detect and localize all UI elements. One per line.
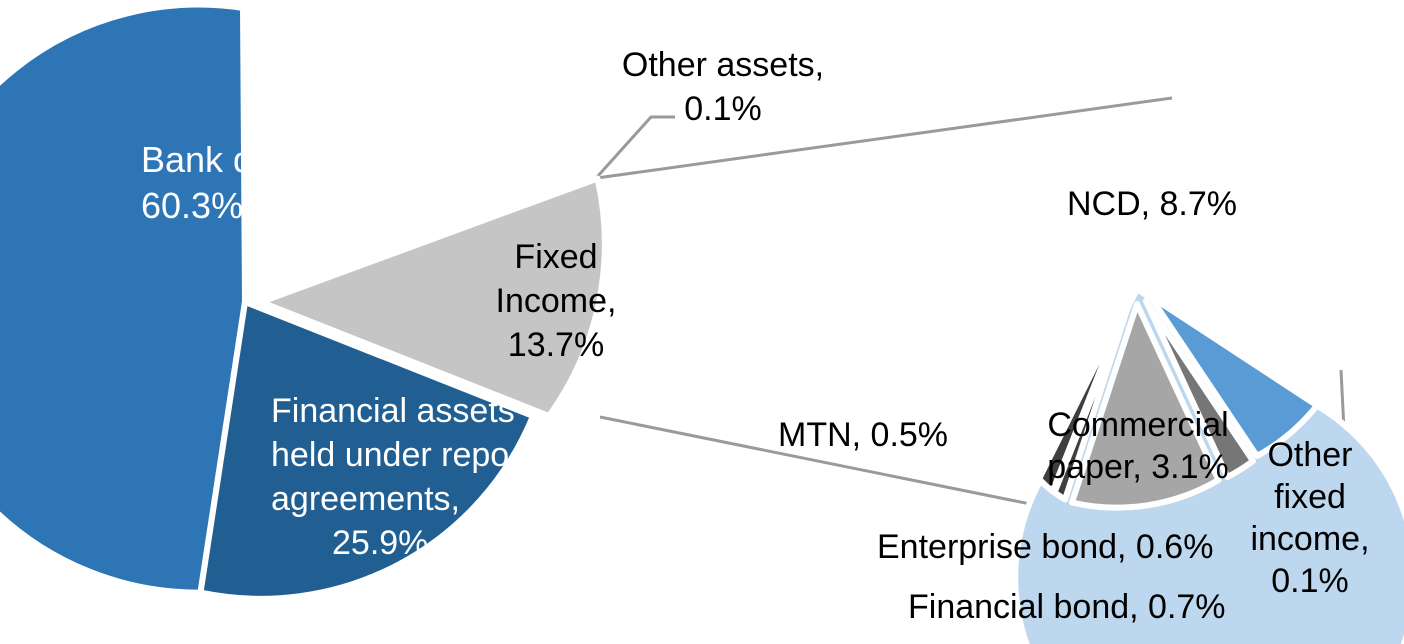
label-bank-deposits-line1: Bank deposits, (141, 139, 377, 180)
label-commercial-paper-line2: paper, 3.1% (1047, 448, 1228, 486)
label-ncd: NCD, 8.7% (1067, 185, 1237, 223)
label-repo-line1: Financial assets (271, 392, 515, 430)
connector-line-top (597, 98, 1172, 178)
label-other-fixed-income-line3: income, (1250, 520, 1369, 558)
label-mtn: MTN, 0.5% (778, 416, 948, 454)
label-other-assets-line2: 0.1% (684, 90, 762, 128)
label-enterprise-bond: Enterprise bond, 0.6% (877, 528, 1213, 566)
label-repo-line4: 25.9% (332, 524, 428, 562)
pie-of-pie-chart: Bank deposits, 60.3% Financial assets he… (0, 0, 1404, 644)
label-fixed-income-line1: Fixed (514, 238, 597, 276)
label-other-assets-line1: Other assets, (622, 46, 824, 84)
label-other-fixed-income-line4: 0.1% (1271, 562, 1349, 600)
label-bank-deposits-line2: 60.3% (141, 185, 243, 226)
label-other-fixed-income-line1: Other (1267, 436, 1352, 474)
label-commercial-paper-line1: Commercial (1047, 406, 1228, 444)
chart-canvas: Bank deposits, 60.3% Financial assets he… (0, 0, 1404, 644)
label-other-fixed-income-line2: fixed (1274, 478, 1346, 516)
label-financial-bond: Financial bond, 0.7% (908, 588, 1226, 626)
label-repo-line2: held under repo (271, 436, 509, 474)
slice-bank-deposits[interactable] (0, 5, 245, 593)
label-repo-line3: agreements, (271, 480, 460, 518)
label-fixed-income-line2: Income, (496, 282, 617, 320)
label-fixed-income-line3: 13.7% (508, 326, 604, 364)
